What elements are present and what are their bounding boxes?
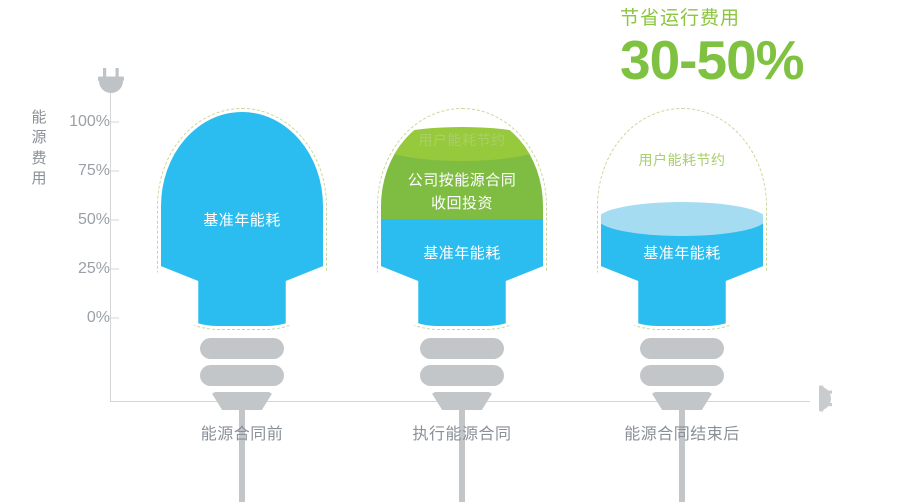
bulb-column-2[interactable]: 用户能耗节约 公司按能源合同 收回投资 基准年能耗 [372,98,552,408]
bulb-base-ring [640,338,724,359]
bulb-base-ring [200,338,284,359]
bulb-blue-label: 基准年能耗 [152,210,332,232]
headline-percentage: 30-50% [620,33,870,88]
y-axis-line [110,92,111,402]
headline-block: 节省运行费用 30-50% [620,8,870,88]
y-tick-label: 75% [50,162,110,180]
bulb-blue-label: 基准年能耗 [592,243,772,265]
y-tick-mark [110,122,119,123]
bulb-base-ring [420,365,504,386]
y-tick-label: 50% [50,211,110,229]
bulb-green-label-line2: 收回投资 [372,193,552,215]
bulb-column-3[interactable]: 用户能耗节约 基准年能耗 [592,98,772,408]
bulb-base-ring [420,338,504,359]
headline-subtitle: 节省运行费用 [620,8,870,31]
bulb-base-ring [200,365,284,386]
category-label-3: 能源合同结束后 [572,420,792,444]
category-label-1: 能源合同前 [132,420,352,444]
plug-icon [94,68,128,99]
y-tick-label: 100% [50,113,110,131]
y-tick-mark [110,269,119,270]
y-tick-label: 0% [50,309,110,327]
plug-icon [806,382,832,421]
bulb-blue-label: 基准年能耗 [372,243,552,265]
bulb-dashed-outline [597,108,767,330]
category-label-2: 执行能源合同 [352,420,572,444]
y-tick-mark [110,318,119,319]
y-tick-label: 25% [50,260,110,278]
bulb-green-label-line1: 公司按能源合同 [372,170,552,192]
bulb-saving-label: 用户能耗节约 [592,150,772,170]
y-tick-mark [110,220,119,221]
y-axis-title: 能源费用 [28,108,50,189]
bulb-column-1[interactable]: 基准年能耗 [152,98,332,408]
y-tick-mark [110,171,119,172]
bulb-base-ring [640,365,724,386]
bulb-saving-label: 用户能耗节约 [372,130,552,150]
